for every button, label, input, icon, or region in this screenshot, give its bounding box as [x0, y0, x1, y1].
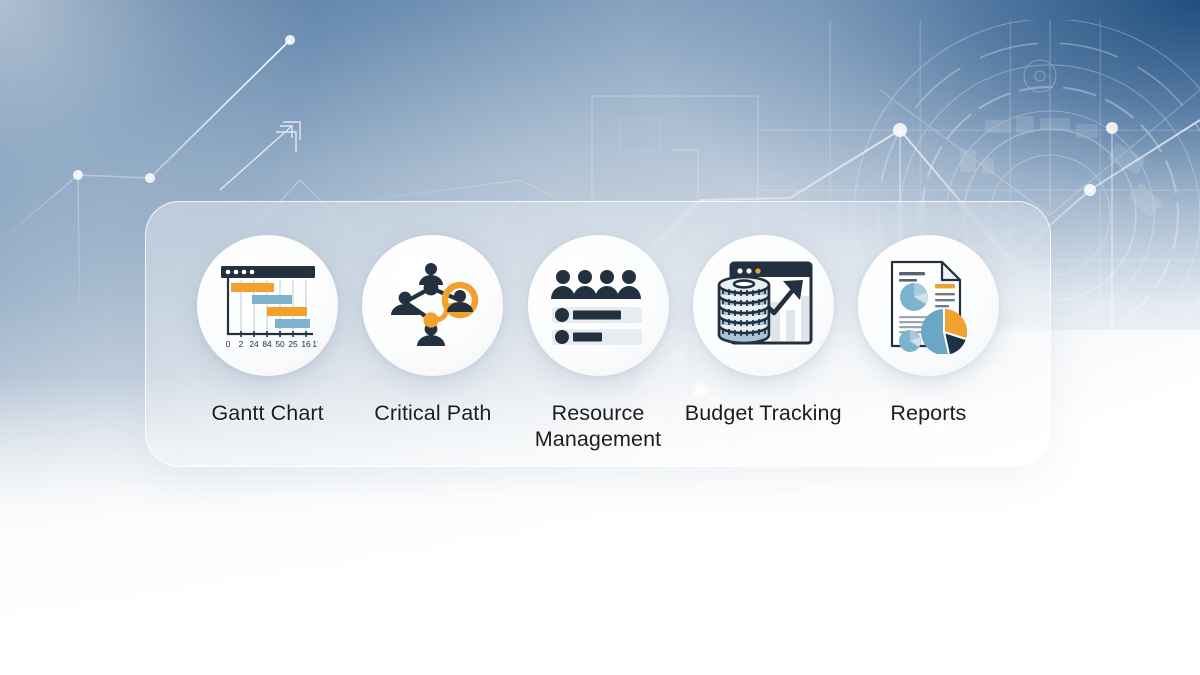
coin-stack: [719, 277, 769, 343]
people-group: [551, 270, 641, 299]
budget-tracking-icon-container[interactable]: [693, 235, 834, 376]
gantt-chart-icon-container[interactable]: 0 2 24 84 50 25 16 17: [197, 235, 338, 376]
gantt-tick-2: 24: [249, 339, 259, 349]
feature-label-gantt-chart: Gantt Chart: [211, 400, 323, 426]
main-pie-chart: [921, 309, 967, 354]
reports-document-icon: [880, 258, 976, 354]
feature-label-critical-path: Critical Path: [374, 400, 491, 426]
feature-item-resource-management[interactable]: Resource Management: [515, 235, 680, 452]
feature-item-gantt-chart[interactable]: 0 2 24 84 50 25 16 17 Gantt Chart: [185, 235, 350, 426]
gantt-tick-4: 50: [275, 339, 285, 349]
small-pie-top: [900, 283, 928, 311]
gantt-tick-1: 2: [238, 339, 243, 349]
gantt-tick-0: 0: [225, 339, 230, 349]
gantt-tick-5: 25: [288, 339, 298, 349]
feature-list: 0 2 24 84 50 25 16 17 Gantt Chart: [145, 201, 1051, 467]
resource-management-icon: [550, 266, 646, 346]
screenshot-stage: 0 2 24 84 50 25 16 17 Gantt Chart: [0, 0, 1200, 675]
feature-item-reports[interactable]: Reports: [846, 235, 1011, 426]
critical-path-network-icon: [385, 258, 481, 354]
progress-row-1: [552, 307, 642, 323]
gantt-tick-3: 84: [262, 339, 272, 349]
resource-management-icon-container[interactable]: [528, 235, 669, 376]
gantt-tick-6: 16: [301, 339, 311, 349]
feature-item-critical-path[interactable]: Critical Path: [350, 235, 515, 426]
feature-label-resource-management: Resource Management: [535, 400, 662, 452]
reports-icon-container[interactable]: [858, 235, 999, 376]
critical-path-icon-container[interactable]: [362, 235, 503, 376]
feature-label-budget-tracking: Budget Tracking: [685, 400, 842, 426]
gantt-chart-icon: 0 2 24 84 50 25 16 17: [218, 262, 318, 350]
feature-item-budget-tracking[interactable]: Budget Tracking: [681, 235, 846, 426]
budget-tracking-icon: [713, 260, 813, 352]
feature-label-reports: Reports: [890, 400, 966, 426]
gantt-tick-7: 17: [312, 339, 318, 349]
small-pie-bottom: [899, 330, 921, 352]
progress-row-2: [552, 329, 642, 345]
